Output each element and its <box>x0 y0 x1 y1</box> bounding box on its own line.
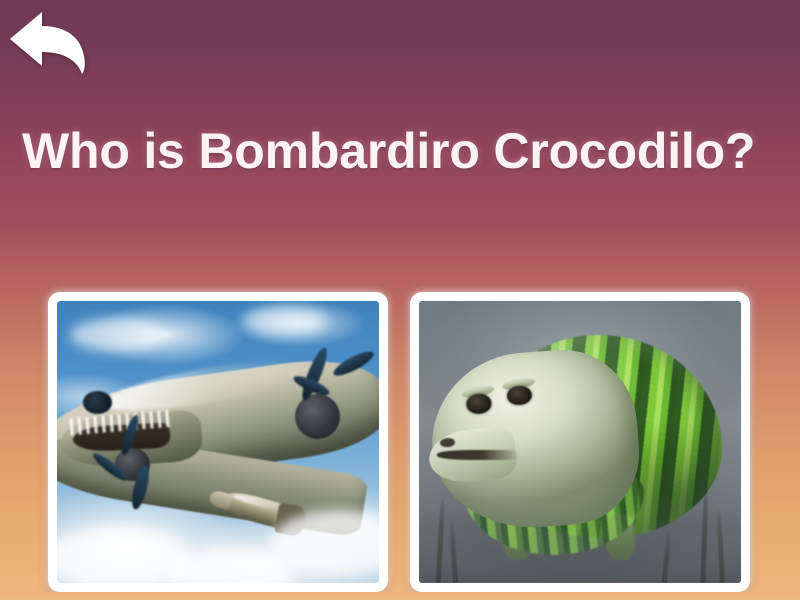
crocodile-eye <box>506 385 532 406</box>
quiz-screen: Who is Bombardiro Crocodilo? <box>0 0 800 600</box>
back-arrow-icon <box>4 6 96 78</box>
question-title: Who is Bombardiro Crocodilo? <box>22 122 800 180</box>
option-image-watermelon-crocodile <box>419 301 741 583</box>
bottom-background-strip <box>0 592 800 600</box>
back-button[interactable] <box>4 6 96 78</box>
option-card-right[interactable] <box>410 292 750 592</box>
option-image-bomber-crocodile <box>57 301 379 583</box>
crocodile-eye <box>466 393 492 414</box>
cloud <box>70 318 167 352</box>
crocodile-head <box>426 345 644 534</box>
option-card-left[interactable] <box>48 292 388 592</box>
crocodile-eye <box>83 391 112 414</box>
crocodile-mouth-line <box>437 450 519 460</box>
cloud <box>244 307 328 335</box>
